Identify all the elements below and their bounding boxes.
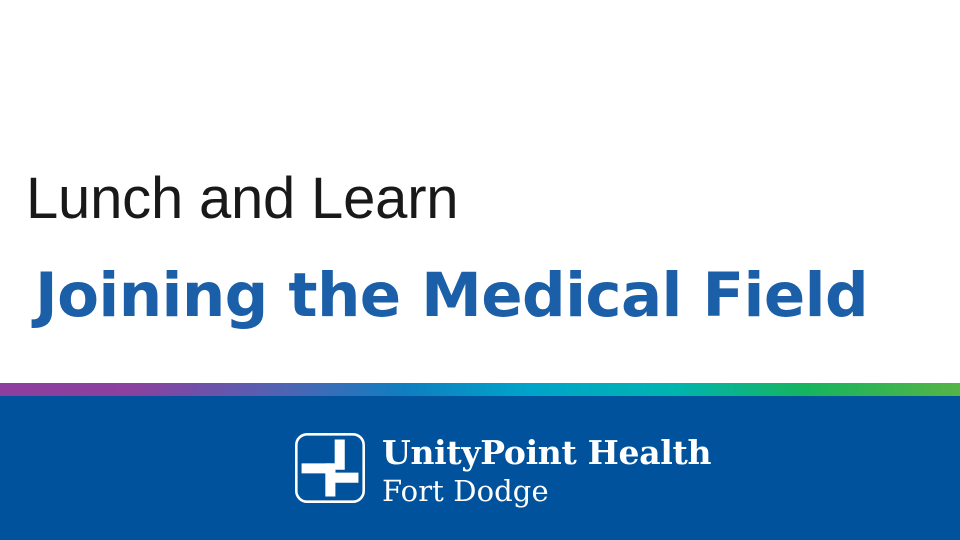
logo-wordmark: UnityPoint Health Fort Dodge xyxy=(382,432,711,508)
slide-main-title: Joining the Medical Field xyxy=(35,258,868,334)
title-slide: Lunch and Learn Joining the Medical Fiel… xyxy=(0,0,960,540)
slide-content-area: Lunch and Learn Joining the Medical Fiel… xyxy=(0,0,960,383)
unitypoint-health-logo-lockup: UnityPoint Health Fort Dodge xyxy=(294,432,711,508)
logo-region-name: Fort Dodge xyxy=(382,474,711,508)
slide-eyebrow-title: Lunch and Learn xyxy=(26,165,458,233)
unitypoint-cross-logo-icon xyxy=(294,432,366,504)
brand-gradient-rule xyxy=(0,383,960,396)
brand-footer-band: UnityPoint Health Fort Dodge xyxy=(0,396,960,540)
logo-brand-name: UnityPoint Health xyxy=(382,434,711,472)
